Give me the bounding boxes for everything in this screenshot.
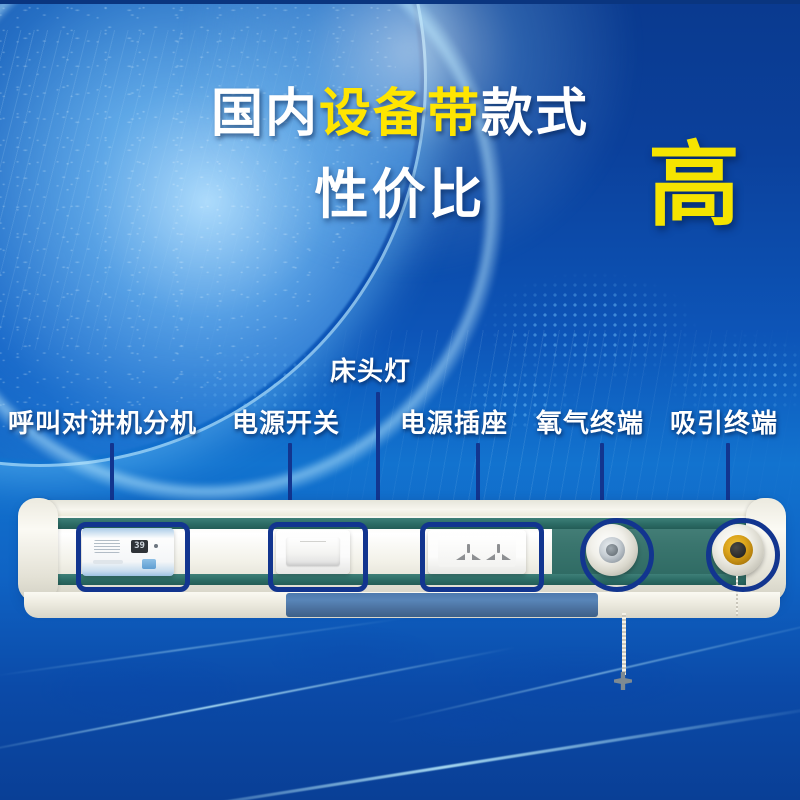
headline-block: 国内设备带款式 性价比 [0, 88, 800, 140]
highlight-ring-oxygen [580, 518, 654, 592]
bed-head-panel: 39 [24, 500, 780, 618]
pull-cord[interactable] [622, 613, 626, 675]
top-edge-bar [0, 0, 800, 4]
poster-canvas: 国内设备带款式 性价比 高 呼叫对讲机分机 电源开关 床头灯 电源插座 氧气终端… [0, 0, 800, 800]
callout-label-intercom: 呼叫对讲机分机 [8, 410, 197, 436]
highlight-ring-intercom [76, 522, 190, 592]
highlight-ring-switch [268, 522, 368, 592]
world-map-silhouette [0, 600, 800, 800]
headline-seg-value-ratio: 性价比 [315, 165, 486, 225]
highlight-ring-suction [706, 518, 780, 592]
callout-label-oxygen: 氧气终端 [536, 410, 644, 436]
callout-label-power-switch: 电源开关 [232, 410, 340, 436]
headline-big-word: 高 [648, 140, 740, 232]
panel-blue-rail-section [286, 593, 598, 617]
headline-seg-domestic: 国内 [211, 85, 319, 143]
callout-label-suction: 吸引终端 [670, 410, 778, 436]
headline-seg-style: 款式 [481, 85, 589, 143]
callout-label-power-socket: 电源插座 [400, 410, 508, 436]
callout-label-bed-lamp: 床头灯 [330, 358, 411, 384]
headline-seg-equipment-belt: 设备带 [319, 85, 481, 143]
panel-top-edge [24, 500, 780, 516]
headline-line-1: 国内设备带款式 [0, 88, 800, 140]
highlight-ring-socket [420, 522, 544, 592]
panel-end-cap-left [18, 498, 58, 602]
